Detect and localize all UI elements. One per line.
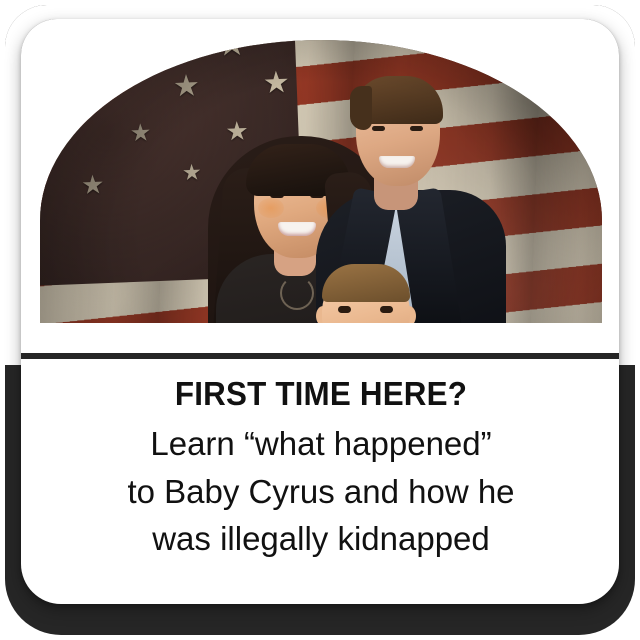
baby-eye-right bbox=[380, 306, 393, 313]
page-title: FIRST TIME HERE? bbox=[54, 325, 588, 410]
woman-blush-left bbox=[258, 198, 284, 218]
man-smile bbox=[379, 156, 415, 168]
woman-necklace bbox=[280, 276, 314, 310]
baby-eye-left bbox=[338, 306, 351, 313]
baby-hair bbox=[322, 264, 410, 302]
card-description: Learn “what happened” to Baby Cyrus and … bbox=[40, 410, 602, 563]
family-photo[interactable]: ★★★★★★★★★★ bbox=[40, 40, 602, 323]
woman-smile bbox=[278, 222, 316, 236]
man-eye-right bbox=[410, 126, 423, 131]
card-description-line-2: to Baby Cyrus and how he bbox=[40, 468, 602, 516]
man-hair-side bbox=[350, 86, 372, 130]
man-eye-left bbox=[372, 126, 385, 131]
card-surface[interactable]: ★★★★★★★★★★ bbox=[21, 19, 619, 604]
family-subjects bbox=[40, 40, 602, 323]
photo-dome: ★★★★★★★★★★ bbox=[40, 40, 602, 323]
card-description-line-1: Learn “what happened” bbox=[40, 420, 602, 468]
card-text-block: FIRST TIME HERE? Learn “what happened” t… bbox=[40, 325, 602, 563]
card-description-line-3: was illegally kidnapped bbox=[40, 515, 602, 563]
first-time-here-card[interactable]: ★★★★★★★★★★ bbox=[0, 0, 640, 640]
